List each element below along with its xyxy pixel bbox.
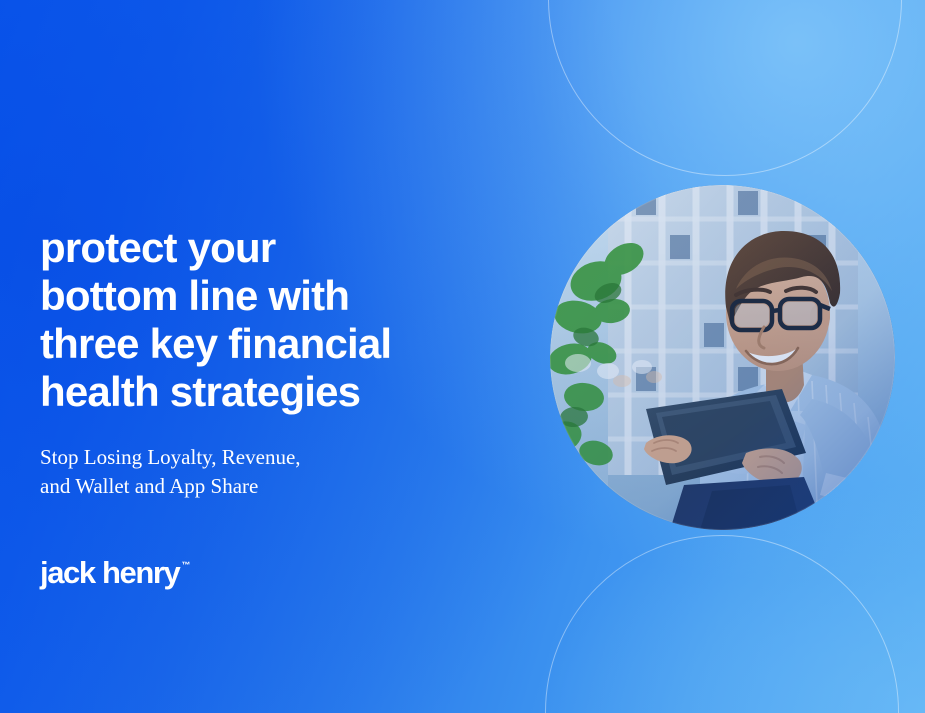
brand-logo-wordmark: jack henry	[40, 556, 179, 590]
trademark-symbol: ™	[181, 561, 190, 570]
cover-text-block: protect your bottom line with three key …	[40, 224, 490, 501]
headline-line-4: health strategies	[40, 368, 490, 416]
headline-line-1: protect your	[40, 224, 490, 272]
subtitle-line-2: and Wallet and App Share	[40, 472, 490, 501]
subtitle-line-1: Stop Losing Loyalty, Revenue,	[40, 443, 490, 472]
headline-line-2: bottom line with	[40, 272, 490, 320]
hero-photo-illustration	[550, 185, 895, 530]
hero-photo-circle	[550, 185, 895, 530]
page-subtitle: Stop Losing Loyalty, Revenue, and Wallet…	[40, 443, 490, 501]
ebook-cover-slide: protect your bottom line with three key …	[0, 0, 925, 713]
headline-line-3: three key financial	[40, 320, 490, 368]
page-title: protect your bottom line with three key …	[40, 224, 490, 416]
brand-logo: jack henry ™	[40, 556, 190, 590]
